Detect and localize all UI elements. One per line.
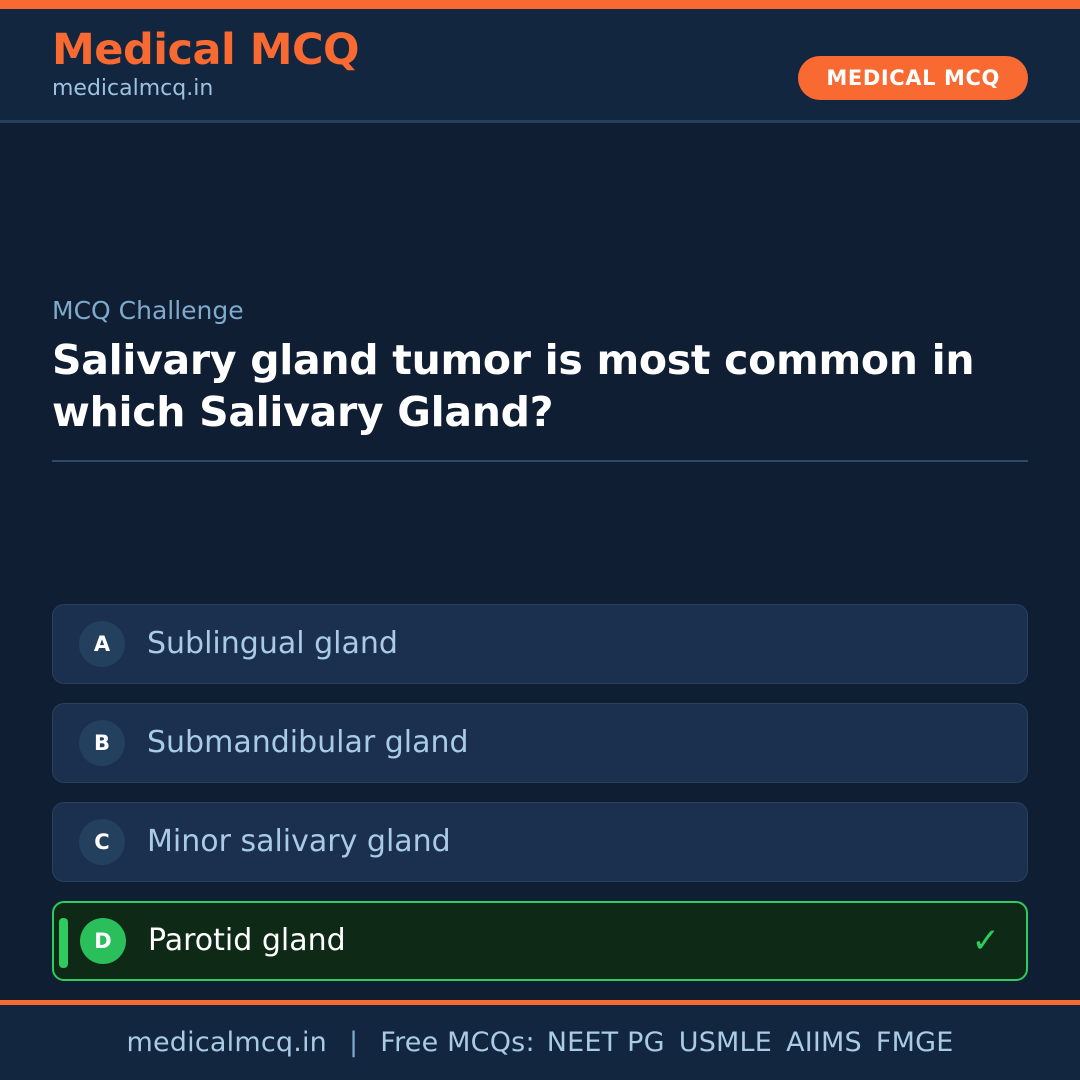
brand-title: Medical MCQ bbox=[52, 27, 359, 73]
question-text: Salivary gland tumor is most common in w… bbox=[52, 334, 1028, 438]
check-icon: ✓ bbox=[972, 921, 1001, 961]
question-kicker: MCQ Challenge bbox=[52, 295, 1028, 328]
option-b[interactable]: BSubmandibular gland bbox=[52, 703, 1028, 783]
option-letter-badge: D bbox=[80, 918, 126, 964]
header: Medical MCQ medicalmcq.in MEDICAL MCQ bbox=[0, 9, 1080, 123]
correct-accent-bar bbox=[59, 918, 68, 968]
question-block: MCQ Challenge Salivary gland tumor is mo… bbox=[52, 295, 1028, 462]
main-content: MCQ Challenge Salivary gland tumor is mo… bbox=[0, 123, 1080, 1000]
header-badge: MEDICAL MCQ bbox=[798, 56, 1028, 100]
option-letter-badge: C bbox=[79, 819, 125, 865]
brand-subtitle: medicalmcq.in bbox=[52, 75, 359, 103]
option-c[interactable]: CMinor salivary gland bbox=[52, 802, 1028, 882]
footer-exams: NEET PGUSMLEAIIMSFMGE bbox=[547, 1027, 954, 1058]
brand: Medical MCQ medicalmcq.in bbox=[52, 27, 359, 103]
mcq-card: Medical MCQ medicalmcq.in MEDICAL MCQ MC… bbox=[0, 0, 1080, 1080]
footer-prefix: Free MCQs: bbox=[380, 1027, 534, 1058]
option-d[interactable]: DParotid gland✓ bbox=[52, 901, 1028, 981]
option-label: Sublingual gland bbox=[147, 626, 398, 662]
footer-exam-item: FMGE bbox=[876, 1027, 954, 1058]
footer-inner: medicalmcq.in | Free MCQs: NEET PGUSMLEA… bbox=[126, 1027, 953, 1058]
footer-exam-item: NEET PG bbox=[547, 1027, 665, 1058]
option-label: Submandibular gland bbox=[147, 725, 469, 761]
option-label: Parotid gland bbox=[148, 923, 346, 959]
top-accent-stripe bbox=[0, 0, 1080, 9]
footer-site: medicalmcq.in bbox=[126, 1027, 327, 1058]
footer-exam-item: USMLE bbox=[679, 1027, 772, 1058]
question-divider bbox=[52, 460, 1028, 462]
options-list: ASublingual glandBSubmandibular glandCMi… bbox=[52, 604, 1028, 1000]
option-letter-badge: B bbox=[79, 720, 125, 766]
footer-exam-item: AIIMS bbox=[786, 1027, 862, 1058]
option-letter-badge: A bbox=[79, 621, 125, 667]
option-label: Minor salivary gland bbox=[147, 824, 451, 860]
option-a[interactable]: ASublingual gland bbox=[52, 604, 1028, 684]
footer-separator: | bbox=[349, 1027, 358, 1058]
footer: medicalmcq.in | Free MCQs: NEET PGUSMLEA… bbox=[0, 1000, 1080, 1080]
